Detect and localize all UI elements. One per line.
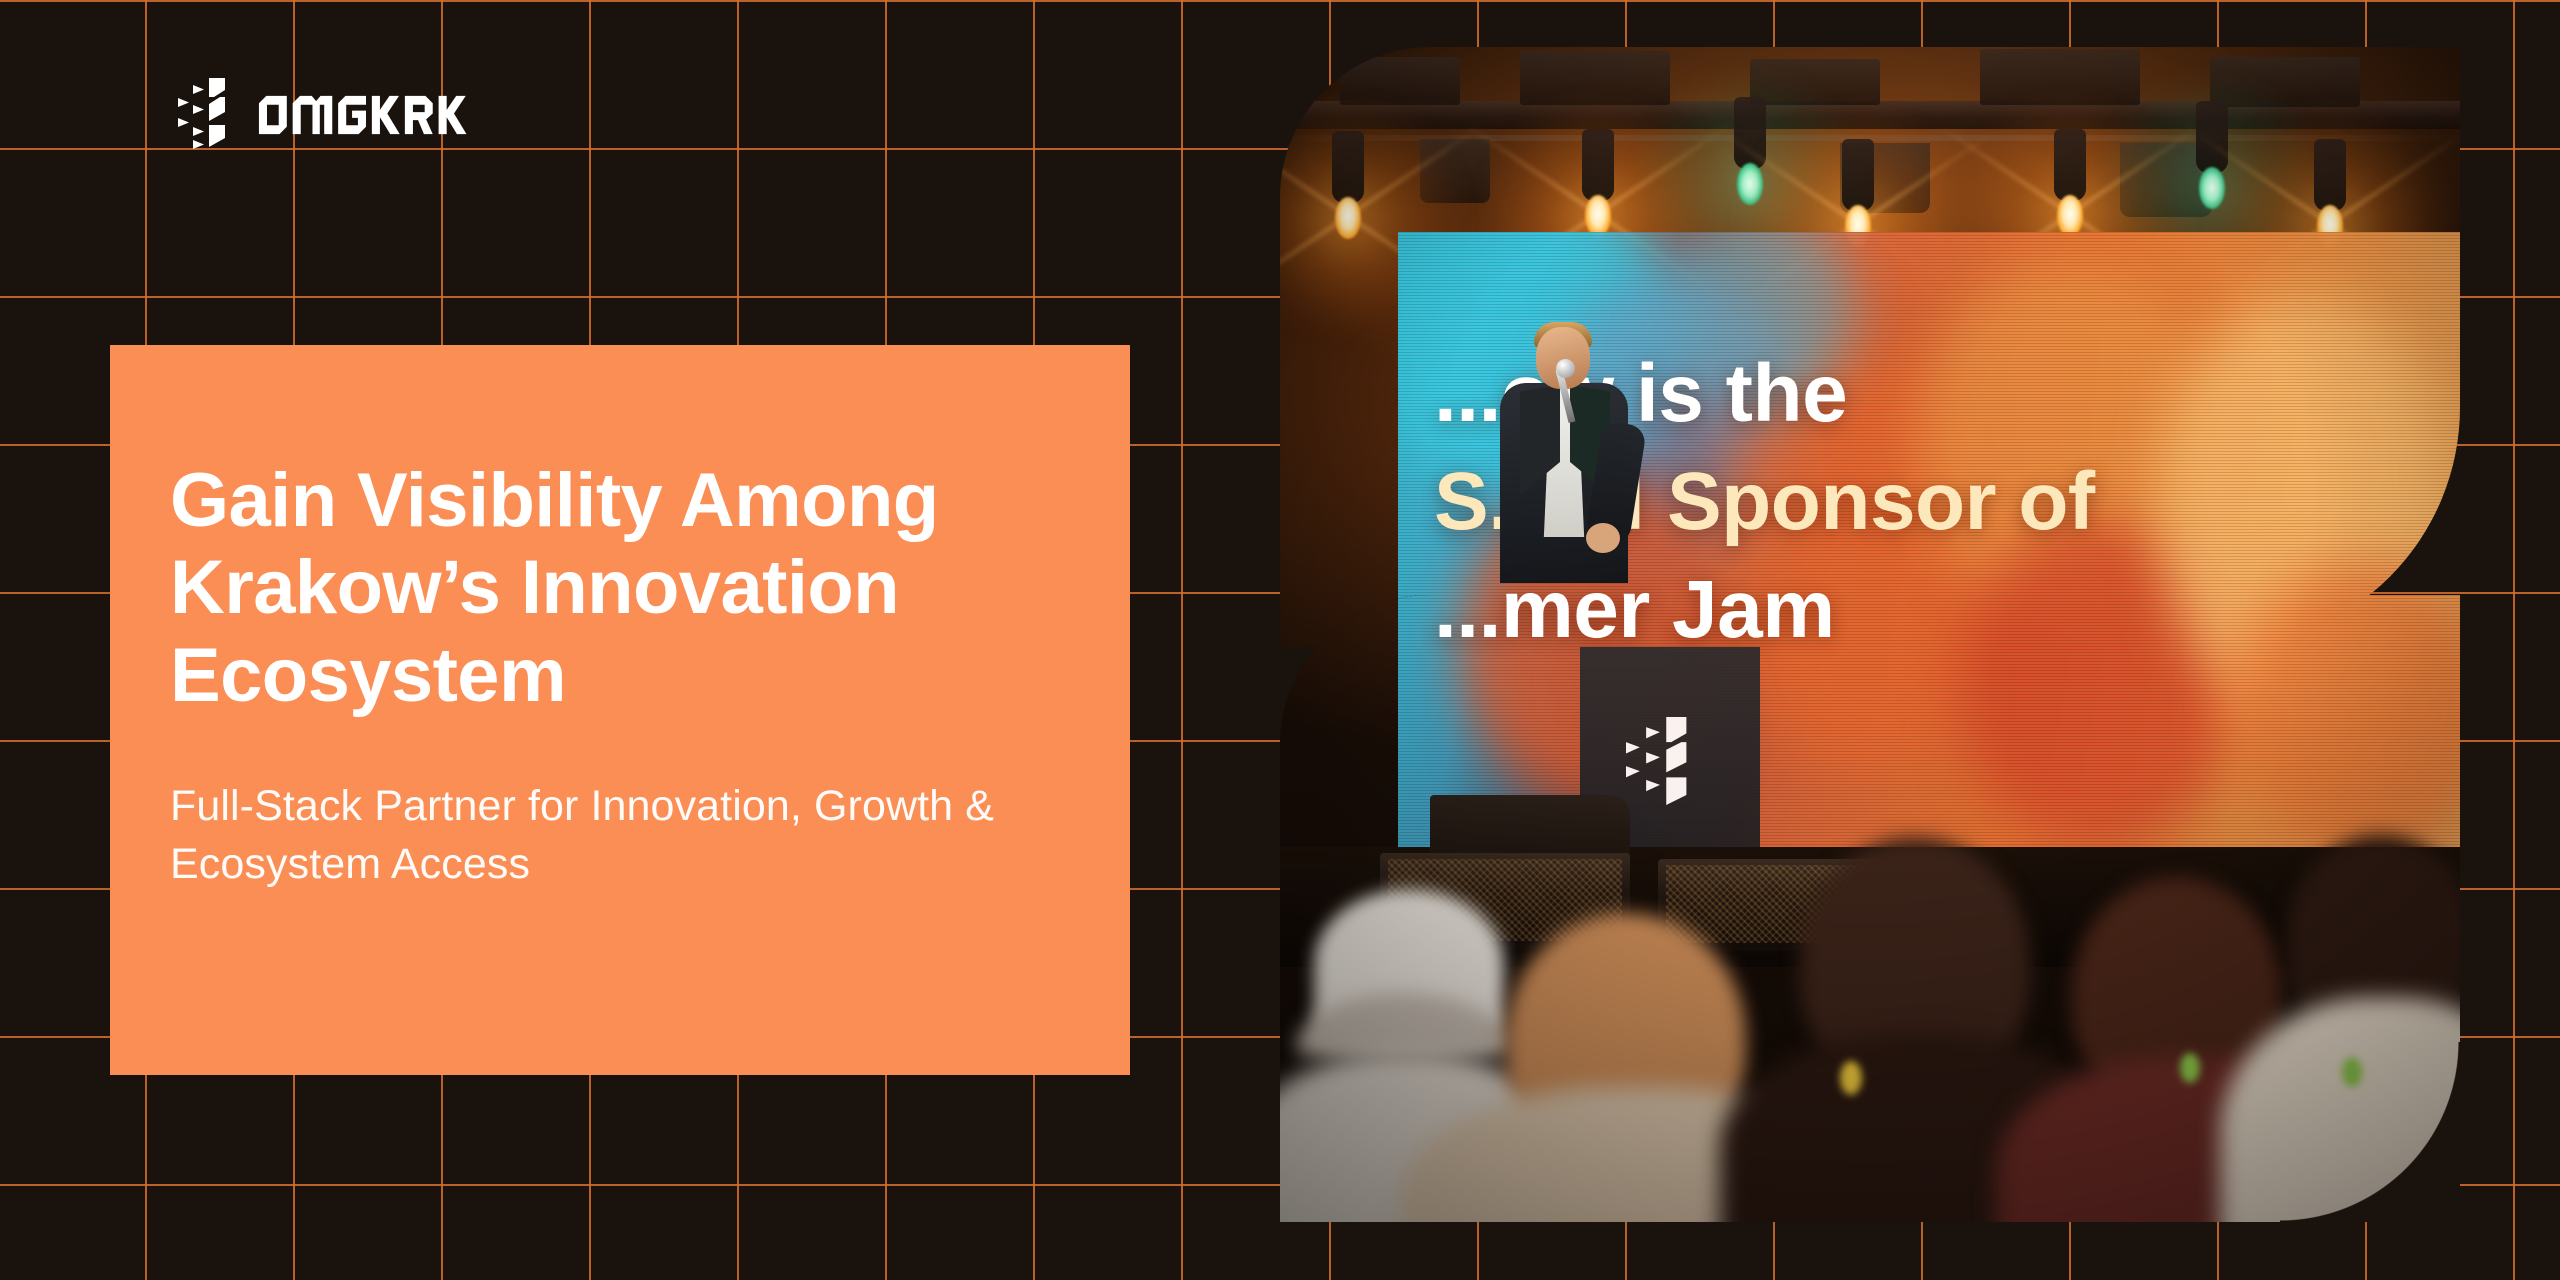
rig-fixture: [1340, 57, 1460, 105]
audience-crowd: [1280, 595, 2460, 1222]
audience-light-dot: [2342, 1057, 2362, 1087]
page-title: Gain Visibility Among Krakow’s Innovatio…: [170, 457, 1100, 719]
stage-scene-upper: ...ow is the S... al Sponsor of ...mer J…: [1280, 47, 2460, 647]
headline-panel: Gain Visibility Among Krakow’s Innovatio…: [110, 345, 1130, 1075]
audience-light-dot: [1840, 1061, 1862, 1095]
stage-scene-lower: ...ow is the S... al Sponsor of ...mer J…: [1280, 595, 2460, 1222]
brand-logo[interactable]: [178, 78, 498, 152]
omgkrk-wordmark: [256, 93, 498, 137]
omgkrk-glyph-mark-icon: [178, 78, 240, 152]
microphone-icon: [1556, 359, 1575, 378]
photo-panel-lower: ...ow is the S... al Sponsor of ...mer J…: [1280, 595, 2460, 1222]
stage-speaker: [1490, 327, 1640, 577]
photo-panel-upper: ...ow is the S... al Sponsor of ...mer J…: [1280, 47, 2460, 647]
audience-light-dot: [2180, 1053, 2200, 1083]
banner-canvas: ...ow is the S... al Sponsor of ...mer J…: [0, 0, 2560, 1280]
page-subtitle: Full-Stack Partner for Innovation, Growt…: [170, 777, 1100, 893]
event-photo-composition: ...ow is the S... al Sponsor of ...mer J…: [1280, 47, 2460, 1222]
